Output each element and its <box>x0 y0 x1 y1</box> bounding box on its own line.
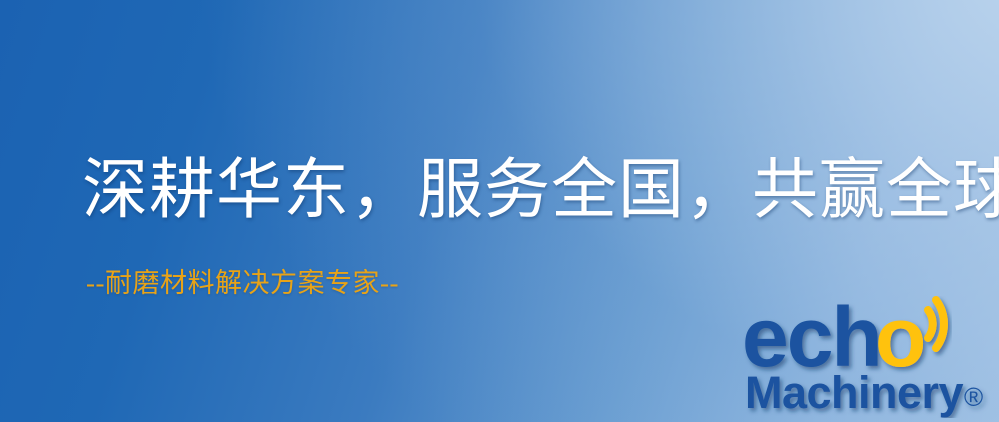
signal-arc-icon <box>928 300 944 348</box>
logo-text-machinery: Machinery <box>745 367 964 418</box>
echo-machinery-logo[interactable]: ech o Machinery ® <box>742 296 994 418</box>
logo-artwork: ech o Machinery ® <box>742 296 994 418</box>
logo-wordmark-machinery: Machinery ® <box>745 367 983 418</box>
banner-subtitle: --耐磨材料解决方案专家-- <box>86 266 399 300</box>
banner-headline: 深耕华东，服务全国，共赢全球 <box>82 152 999 230</box>
registered-trademark-icon: ® <box>964 382 983 412</box>
promo-banner: 深耕华东，服务全国，共赢全球 --耐磨材料解决方案专家-- ech o <box>0 0 999 422</box>
